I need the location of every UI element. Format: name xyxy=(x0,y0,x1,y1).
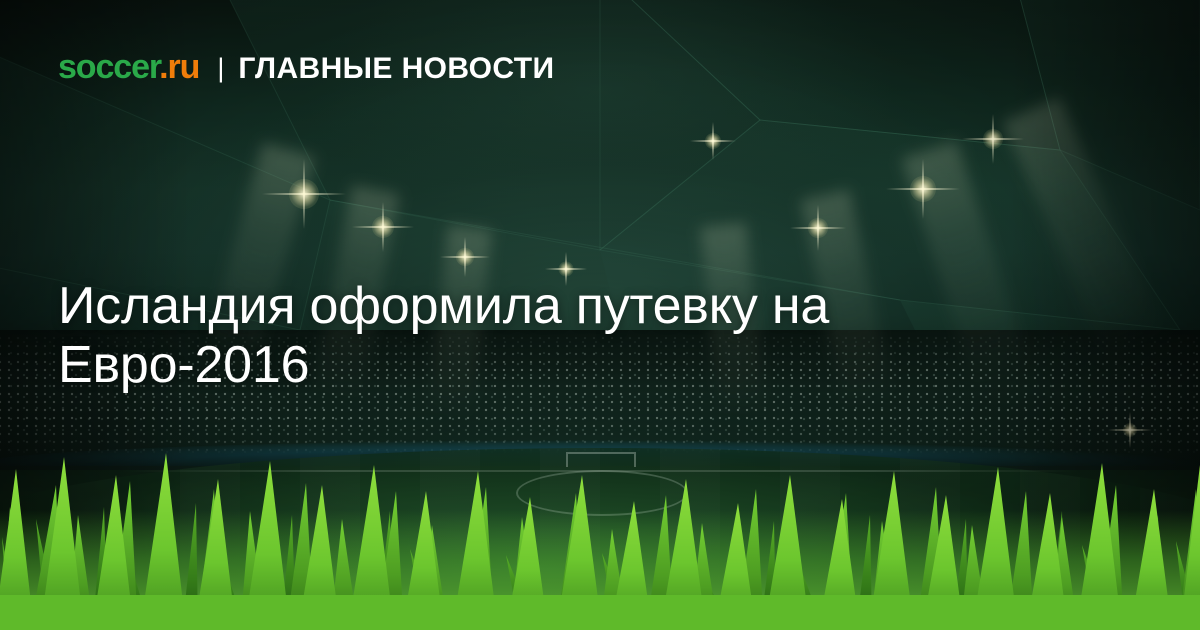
article-headline: Исландия оформила путевку на Евро-2016 xyxy=(58,277,1018,396)
site-header: soccer.ru | ГЛАВНЫЕ НОВОСТИ xyxy=(58,50,554,84)
header-divider: | xyxy=(217,55,224,82)
header-kicker: ГЛАВНЫЕ НОВОСТИ xyxy=(238,54,554,84)
logo-tld: .ru xyxy=(159,48,199,86)
foreground-grass xyxy=(0,445,1200,630)
logo-name: soccer xyxy=(58,48,159,86)
news-share-card: soccer.ru | ГЛАВНЫЕ НОВОСТИ Исландия офо… xyxy=(0,0,1200,630)
site-logo[interactable]: soccer.ru xyxy=(58,50,199,84)
